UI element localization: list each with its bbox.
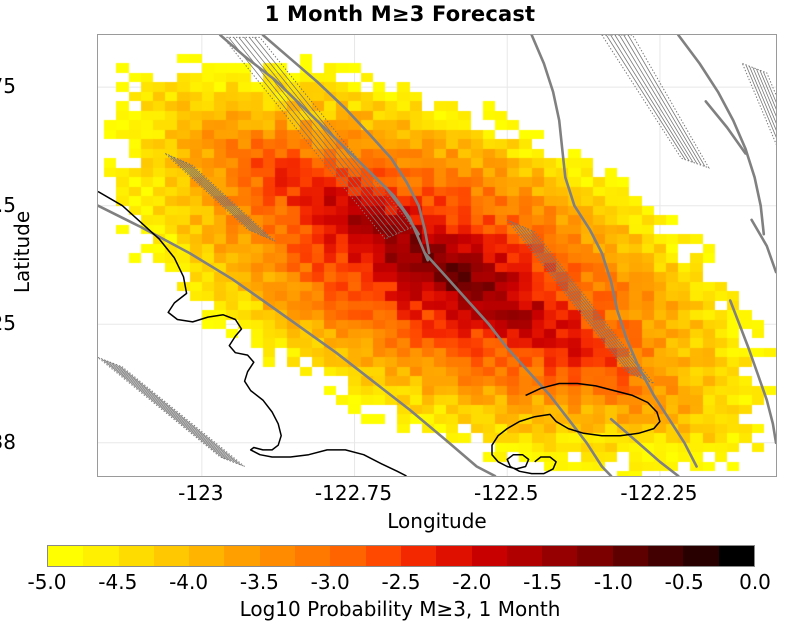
fault-dip-rung <box>109 362 231 462</box>
x-axis-label: Longitude <box>97 509 777 533</box>
colorbar-block <box>83 546 118 566</box>
fault-dip-rung <box>615 35 693 162</box>
fault-dip-rung <box>229 37 390 237</box>
forecast-map-figure: 1 Month M≥3 Forecast 38.7538.538.2538 -1… <box>0 0 800 627</box>
colorbar-block <box>189 546 224 566</box>
fault-dip-rung <box>606 35 685 160</box>
colorbar-tick-label: 0.0 <box>739 570 771 594</box>
colorbar <box>47 545 755 567</box>
fault-dip-rung <box>102 359 224 459</box>
fault-trace <box>678 35 764 234</box>
colorbar-block <box>330 546 365 566</box>
fault-dip-rung <box>119 366 241 466</box>
fault-dip-rung <box>244 37 401 232</box>
fault-dip-rung <box>177 159 259 235</box>
colorbar-block <box>401 546 436 566</box>
colorbar-tick-label: -1.0 <box>594 570 633 594</box>
coastline <box>98 192 407 477</box>
fault-dip-rung <box>624 35 701 165</box>
fault-dip-rung <box>185 162 267 238</box>
fault-trace <box>98 206 495 476</box>
fault-dip-rung <box>105 360 227 460</box>
fault-dip-rung <box>619 35 697 164</box>
colorbar-block <box>48 546 83 566</box>
fault-dip-rung <box>169 155 252 231</box>
colorbar-block <box>648 546 683 566</box>
fault-trace <box>425 253 611 476</box>
fault-dip-rung <box>523 227 642 379</box>
fault-dip-rung <box>173 157 256 233</box>
colorbar-tick-label: -0.5 <box>665 570 704 594</box>
colorbar-block <box>613 546 648 566</box>
colorbar-block <box>542 546 577 566</box>
colorbar-block <box>119 546 154 566</box>
colorbar-block <box>295 546 330 566</box>
colorbar-block <box>719 546 754 566</box>
fault-dip-rung <box>116 364 238 464</box>
colorbar-block <box>577 546 612 566</box>
fault-trace <box>730 301 776 443</box>
fault-dip-rung <box>519 225 638 377</box>
fault-dip-rung <box>515 223 634 375</box>
fault-dip-rung <box>249 37 404 230</box>
colorbar-block <box>154 546 189 566</box>
fault-dip-rung <box>181 160 264 236</box>
colorbar-tick-label: -5.0 <box>27 570 66 594</box>
fault-and-coastline-layer <box>98 35 776 476</box>
colorbar-block <box>683 546 718 566</box>
colorbar-block <box>366 546 401 566</box>
colorbar-block <box>260 546 295 566</box>
colorbar-tick-label: -1.5 <box>523 570 562 594</box>
fault-trace <box>706 101 746 153</box>
colorbar-tick-label: -4.0 <box>169 570 208 594</box>
x-tick-label: -123 <box>178 481 223 505</box>
fault-dip-rung <box>239 37 397 233</box>
colorbar-block <box>507 546 542 566</box>
y-tick-label: 38.75 <box>0 74 16 98</box>
y-tick-label: 38.25 <box>0 311 16 335</box>
fault-dip-polygon <box>223 37 412 239</box>
fault-dip-rung <box>112 363 234 463</box>
map-plot-area <box>97 34 777 477</box>
colorbar-tick-label: -4.5 <box>98 570 137 594</box>
fault-dip-rung <box>527 228 646 380</box>
fault-dip-rung <box>189 164 272 240</box>
colorbar-block <box>472 546 507 566</box>
fault-dip-rung <box>611 35 690 161</box>
colorbar-tick-label: -3.5 <box>240 570 279 594</box>
y-axis-label: Latitude <box>10 192 34 312</box>
colorbar-block <box>224 546 259 566</box>
x-tick-label: -122.75 <box>315 481 392 505</box>
x-tick-label: -122.25 <box>620 481 697 505</box>
page-title: 1 Month M≥3 Forecast <box>0 2 800 26</box>
colorbar-block <box>436 546 471 566</box>
y-tick-label: 38 <box>0 430 16 454</box>
fault-trace <box>611 419 678 476</box>
colorbar-tick-label: -2.0 <box>452 570 491 594</box>
colorbar-label: Log10 Probability M≥3, 1 Month <box>0 597 800 621</box>
colorbar-tick-label: -3.0 <box>311 570 350 594</box>
fault-dip-rung <box>255 37 409 228</box>
colorbar-tick-label: -2.5 <box>381 570 420 594</box>
fault-dip-rung <box>511 222 630 374</box>
x-tick-label: -122.5 <box>474 481 538 505</box>
fault-dip-rung <box>531 230 650 382</box>
